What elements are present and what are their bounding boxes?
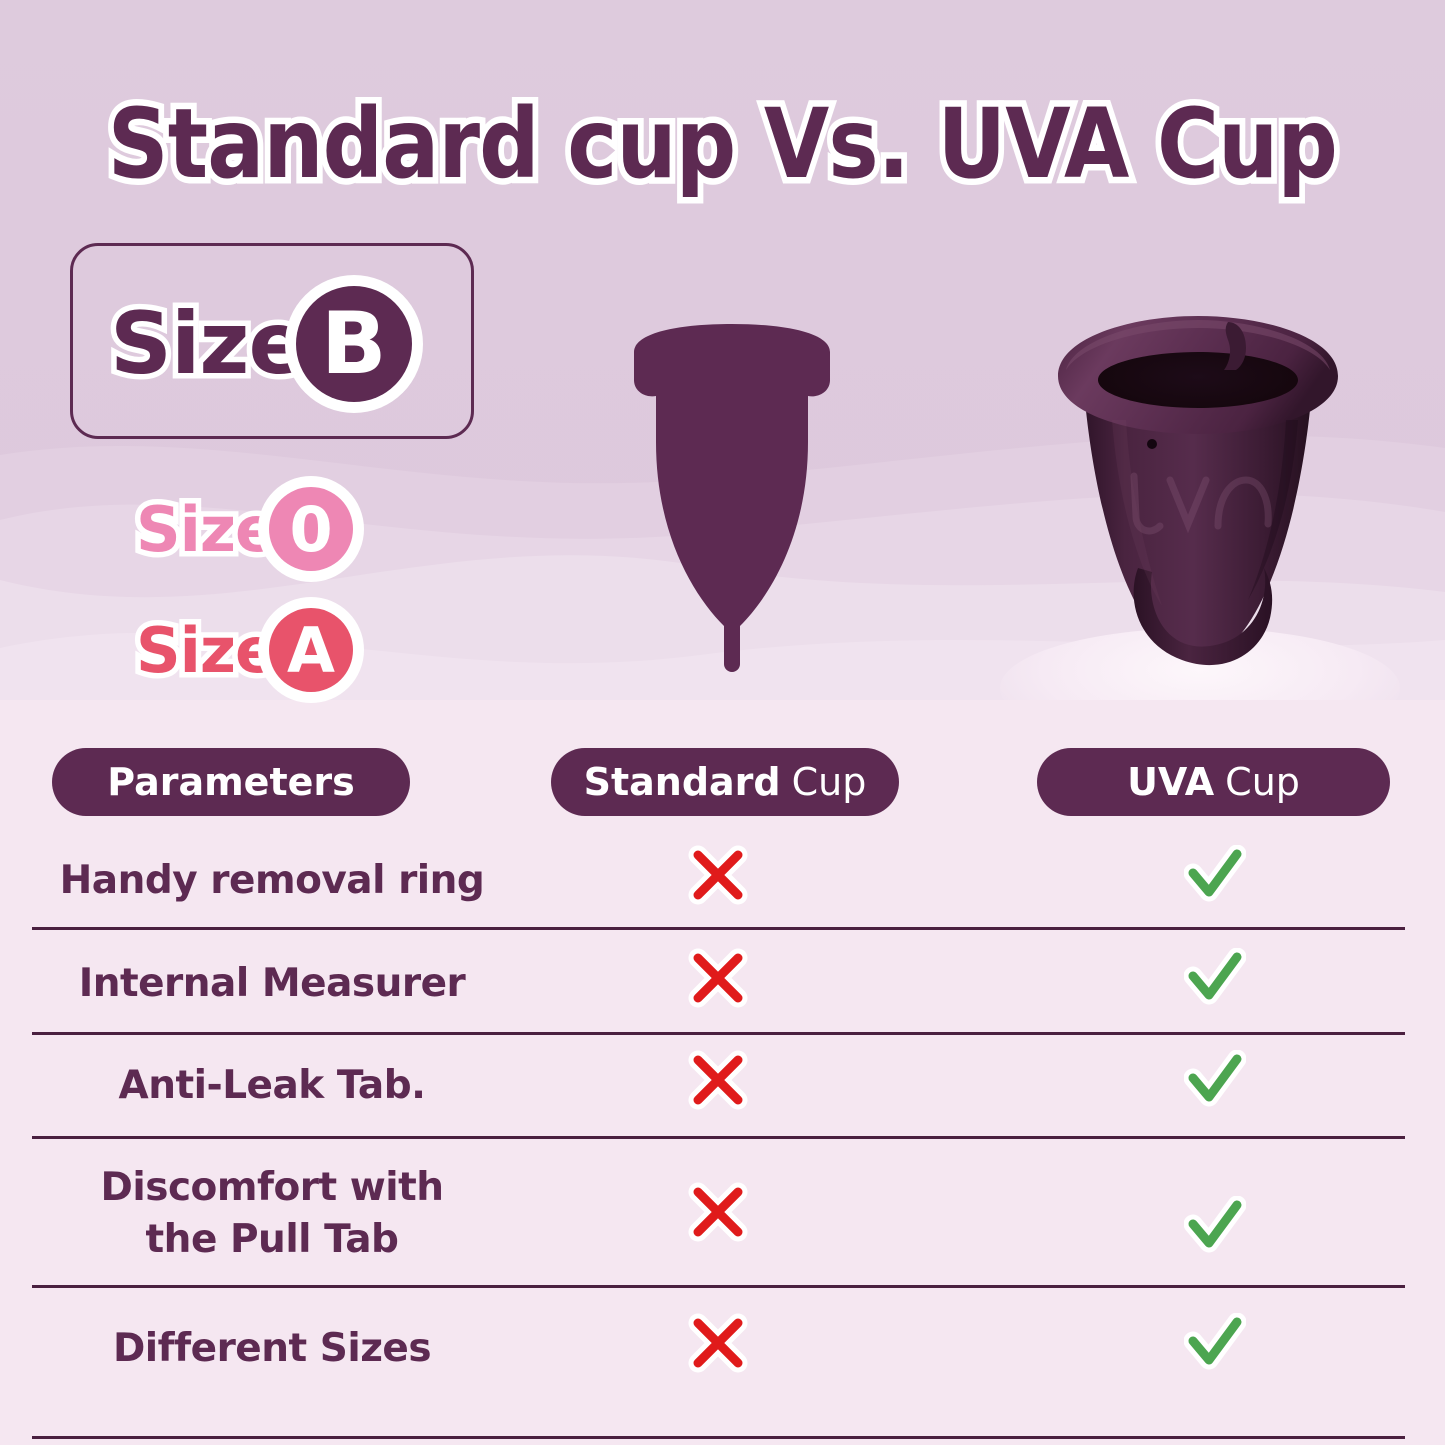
table-header-parameters-label: Parameters <box>107 760 355 804</box>
check-icon <box>1184 1050 1246 1110</box>
table-divider <box>32 1136 1405 1139</box>
size-badge-0-letter: 0 <box>269 487 353 571</box>
check-icon <box>1184 1313 1246 1373</box>
table-header-uva-bold: UVA <box>1127 760 1214 804</box>
table-header-standard-cup: Standard Cup <box>551 748 899 816</box>
table-row-label-discomfort-pull-tab: Discomfort with the Pull Tab <box>32 1162 512 1266</box>
check-icon <box>1184 1196 1246 1256</box>
table-header-uva-cup: UVA Cup <box>1037 748 1390 816</box>
infographic-canvas: Standard cup Vs. UVA Cup Size B Size 0 S… <box>0 0 1445 1445</box>
table-header-uva-regular: Cup <box>1225 760 1300 804</box>
cross-icon <box>688 1050 748 1110</box>
size-badge-a-letter: A <box>269 608 353 692</box>
table-header-parameters: Parameters <box>52 748 410 816</box>
page-title: Standard cup Vs. UVA Cup <box>108 92 1337 196</box>
table-divider <box>32 1285 1405 1288</box>
table-row-label-internal-measurer: Internal Measurer <box>32 958 512 1010</box>
check-icon <box>1184 845 1246 905</box>
size-badge-b-label: Size <box>110 294 306 394</box>
size-badge-a[interactable]: Size A <box>136 608 353 692</box>
size-badge-a-label: Size <box>136 614 276 687</box>
title-container: Standard cup Vs. UVA Cup <box>0 92 1445 196</box>
check-icon <box>1184 948 1246 1008</box>
table-divider <box>32 1032 1405 1035</box>
cross-icon <box>688 1182 748 1242</box>
size-badge-b-letter: B <box>296 286 412 402</box>
table-header-standard-bold: Standard <box>584 760 781 804</box>
table-header-standard-regular: Cup <box>792 760 867 804</box>
table-divider <box>32 1436 1405 1439</box>
size-badge-0-label: Size <box>136 493 276 566</box>
table-row-label-different-sizes: Different Sizes <box>32 1323 512 1375</box>
table-row-label-anti-leak-tab: Anti-Leak Tab. <box>32 1060 512 1112</box>
table-row-label-line-2: the Pull Tab <box>32 1214 512 1266</box>
cross-icon <box>688 1313 748 1373</box>
table-row-label-line-1: Discomfort with <box>32 1162 512 1214</box>
table-divider <box>32 927 1405 930</box>
table-row-label-handy-removal-ring: Handy removal ring <box>32 855 512 907</box>
size-badge-0[interactable]: Size 0 <box>136 487 353 571</box>
size-badge-b[interactable]: Size B <box>110 286 412 402</box>
standard-cup-image <box>612 322 852 676</box>
uva-cup-image <box>1042 300 1354 686</box>
cross-icon <box>688 948 748 1008</box>
cross-icon <box>688 845 748 905</box>
